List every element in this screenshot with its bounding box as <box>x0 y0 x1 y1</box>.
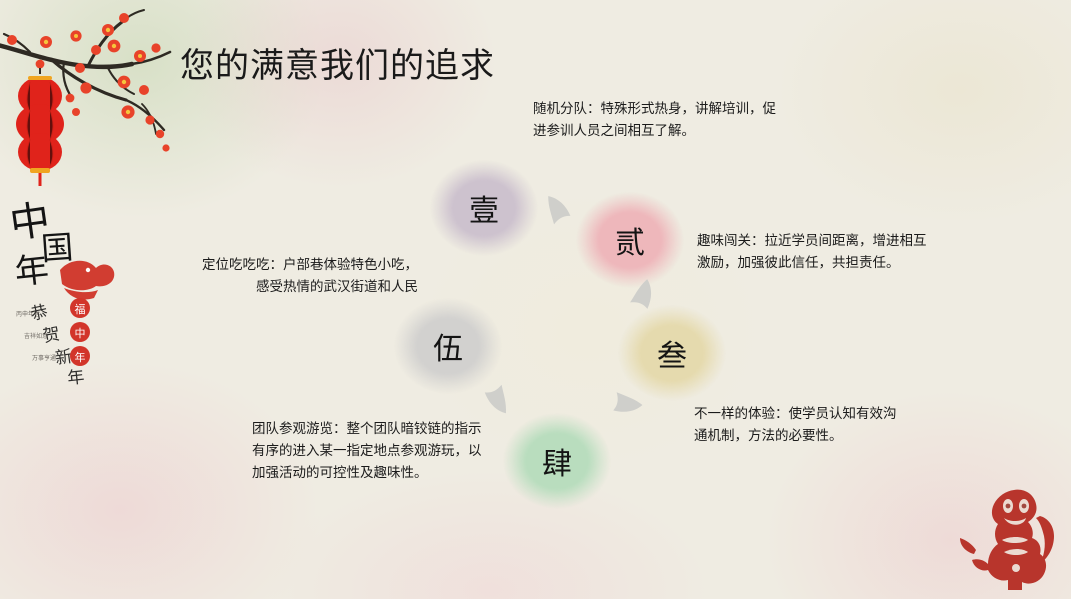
step-blob-1[interactable]: 壹 <box>430 160 538 256</box>
step-caption-1: 随机分队：特殊形式热身，讲解培训，促进参训人员之间相互了解。 <box>533 98 781 142</box>
svg-text:中: 中 <box>75 327 86 340</box>
svg-text:万事亨通: 万事亨通 <box>32 354 56 362</box>
chinese-new-year-calligraphy-icon: 中 国 年 恭 贺 新 年 丙申年春 吉祥如意 万事亨通 <box>2 192 134 397</box>
step-blob-4-label: 肆 <box>542 439 572 483</box>
monkey-papercut-icon <box>952 482 1070 599</box>
svg-text:年: 年 <box>75 350 86 364</box>
step-blob-2[interactable]: 贰 <box>576 192 684 288</box>
step-caption-2: 趣味闯关：拉近学员间距离，增进相互激励，加强彼此信任，共担责任。 <box>697 230 929 274</box>
step-blob-2-label: 贰 <box>615 218 645 262</box>
svg-text:福: 福 <box>75 302 86 316</box>
step-caption-5: 定位吃吃吃：户部巷体验特色小吃，感受热情的武汉街道和人民 <box>196 254 418 298</box>
svg-text:丙申年春: 丙申年春 <box>16 310 40 318</box>
step-blob-5-label: 伍 <box>433 324 463 368</box>
svg-text:吉祥如意: 吉祥如意 <box>24 332 48 340</box>
step-blob-4[interactable]: 肆 <box>503 413 611 509</box>
step-caption-3: 不一样的体验：使学员认知有效沟通机制，方法的必要性。 <box>694 403 900 447</box>
plum-blossom-branch-icon <box>0 0 180 200</box>
svg-text:年: 年 <box>13 250 51 293</box>
step-blob-1-label: 壹 <box>469 186 499 230</box>
page-title: 您的满意我们的追求 <box>180 43 495 89</box>
svg-text:年: 年 <box>66 367 85 389</box>
connector-arrow-1-icon <box>537 192 580 233</box>
step-blob-3-label: 叁 <box>657 331 687 375</box>
slide-canvas: 中 国 年 恭 贺 新 年 丙申年春 吉祥如意 万事亨通 <box>0 0 1071 599</box>
step-caption-4: 团队参观游览：整个团队暗铰链的指示有序的进入某一指定地点参观游玩，以加强活动的可… <box>252 418 484 484</box>
